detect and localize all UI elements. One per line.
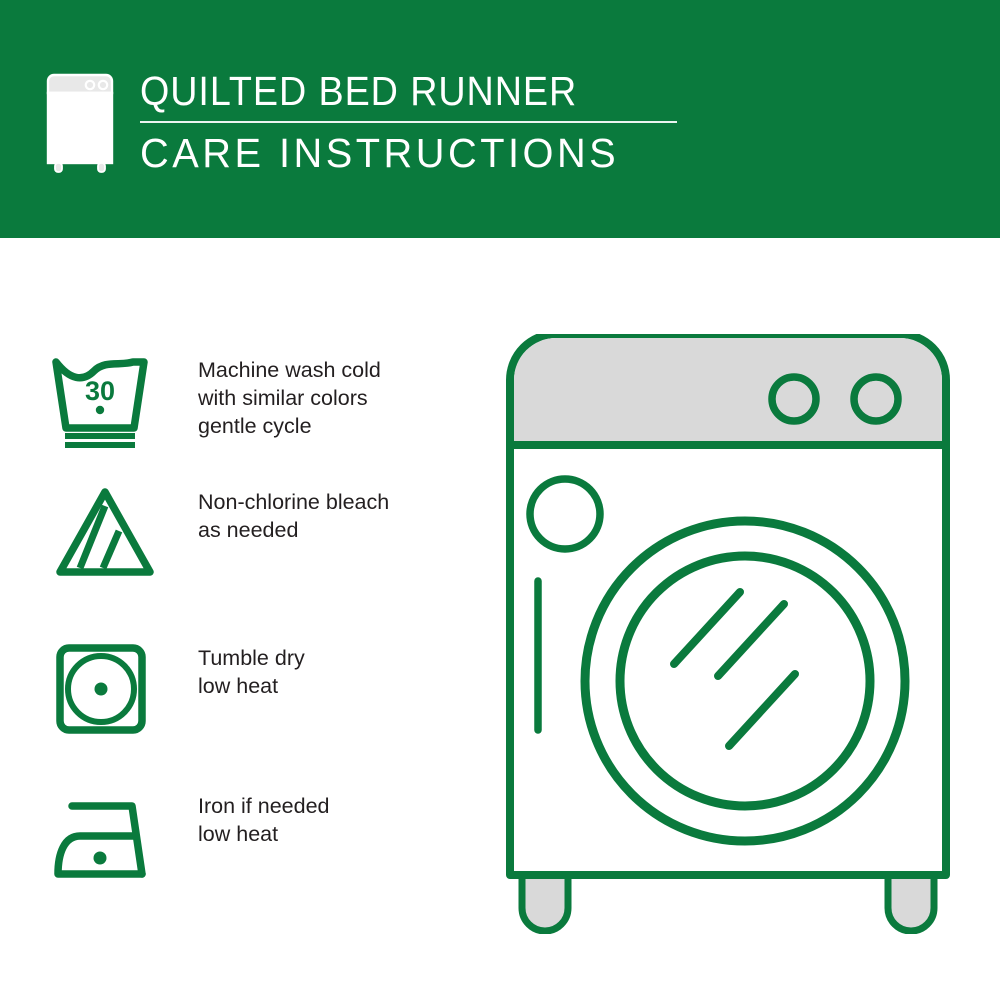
care-text-iron: Iron if needed low heat (198, 788, 330, 848)
care-text-bleach: Non-chlorine bleach as needed (198, 484, 389, 544)
header-banner: QUILTED BED RUNNER CARE INSTRUCTIONS (0, 0, 1000, 238)
care-text-wash: Machine wash cold with similar colors ge… (198, 352, 381, 440)
care-instructions-infographic: QUILTED BED RUNNER CARE INSTRUCTIONS 30 … (0, 0, 1000, 1000)
care-text-tumble-dry: Tumble dry low heat (198, 640, 305, 700)
title-divider (140, 121, 677, 123)
wash-tub-30-gentle-icon: 30 (50, 352, 170, 448)
care-row-bleach: Non-chlorine bleach as needed (50, 484, 450, 580)
care-row-wash: 30 Machine wash cold with similar colors… (50, 352, 450, 448)
care-row-iron: Iron if needed low heat (50, 788, 450, 884)
svg-text:30: 30 (85, 376, 115, 406)
page-title: QUILTED BED RUNNER (140, 68, 710, 114)
washing-machine-icon (44, 66, 126, 174)
non-chlorine-bleach-triangle-icon (50, 484, 170, 580)
header-title-block: QUILTED BED RUNNER CARE INSTRUCTIONS (140, 68, 760, 177)
tumble-dry-low-heat-icon (50, 640, 170, 736)
machine-legs (522, 872, 934, 931)
iron-low-heat-icon (50, 788, 170, 884)
page-subtitle: CARE INSTRUCTIONS (140, 129, 741, 177)
care-row-tumble-dry: Tumble dry low heat (50, 640, 450, 736)
front-load-washing-machine-illustration (492, 334, 972, 934)
